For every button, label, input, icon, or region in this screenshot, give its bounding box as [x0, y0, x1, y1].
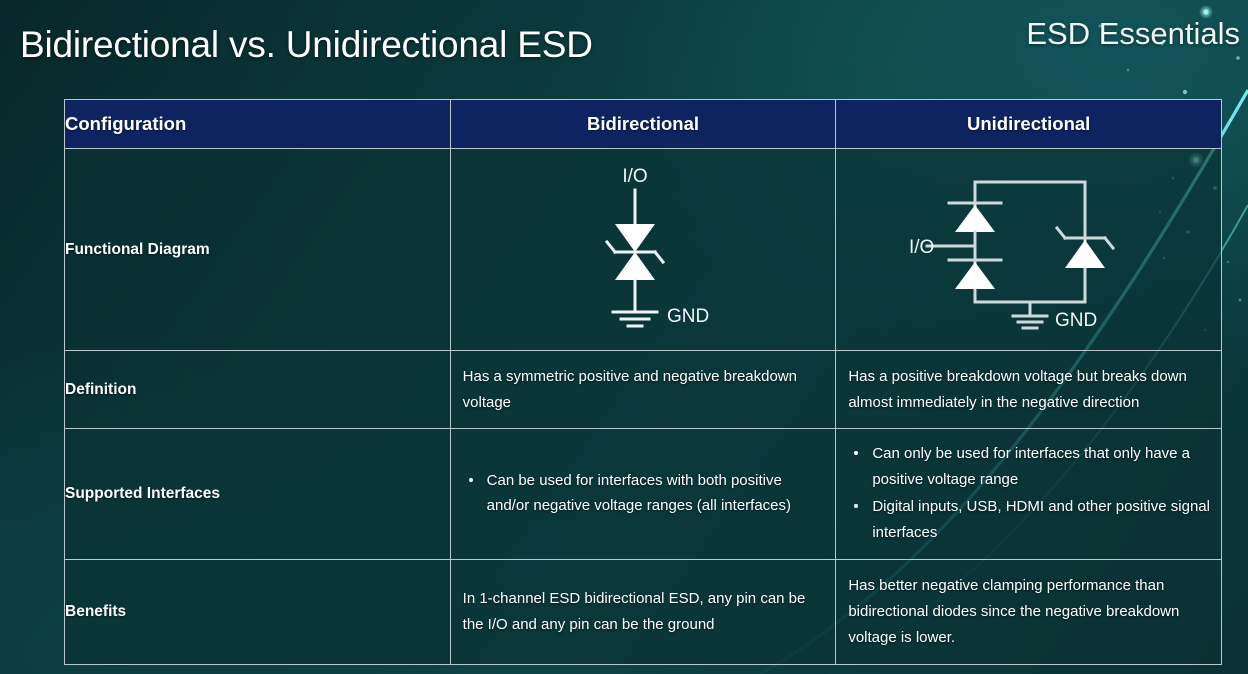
svg-text:I/O: I/O	[622, 166, 647, 187]
benefits-bidirectional-text: In 1-channel ESD bidirectional ESD, any …	[463, 586, 822, 638]
cell-bidirectional-benefits: In 1-channel ESD bidirectional ESD, any …	[450, 560, 836, 665]
list-item: Can only be used for interfaces that onl…	[850, 441, 1211, 493]
cell-bidirectional-diagram: I/O	[450, 149, 836, 351]
table-row-supported-interfaces: Supported Interfaces Can be used for int…	[65, 429, 1222, 560]
bidirectional-interface-list: Can be used for interfaces with both pos…	[451, 458, 836, 532]
table-row-benefits: Benefits In 1-channel ESD bidirectional …	[65, 560, 1222, 665]
row-label-functional-diagram: Functional Diagram	[65, 149, 451, 351]
cell-unidirectional-diagram: I/O GND	[836, 149, 1222, 351]
table-body: Functional Diagram I/O	[65, 149, 1222, 665]
cell-bidirectional-definition: Has a symmetric positive and negative br…	[450, 351, 836, 429]
definition-unidirectional-text: Has a positive breakdown voltage but bre…	[848, 364, 1207, 416]
page-title: Bidirectional vs. Unidirectional ESD	[20, 24, 593, 66]
table-row-functional-diagram: Functional Diagram I/O	[65, 149, 1222, 351]
table-header-row: Configuration Bidirectional Unidirection…	[65, 100, 1222, 149]
row-label-supported-interfaces: Supported Interfaces	[65, 429, 451, 560]
svg-text:GND: GND	[1055, 310, 1097, 331]
benefits-unidirectional-text: Has better negative clamping performance…	[848, 573, 1207, 650]
unidirectional-tvs-diode-schematic: I/O GND	[909, 160, 1149, 340]
definition-bidirectional-text: Has a symmetric positive and negative br…	[463, 364, 822, 416]
bidirectional-tvs-diode-schematic: I/O	[553, 160, 733, 340]
column-header-bidirectional: Bidirectional	[450, 100, 836, 149]
unidirectional-interface-list: Can only be used for interfaces that onl…	[836, 431, 1221, 558]
svg-text:I/O: I/O	[909, 237, 934, 258]
list-item: Digital inputs, USB, HDMI and other posi…	[850, 494, 1211, 546]
cell-unidirectional-supported-interfaces: Can only be used for interfaces that onl…	[836, 429, 1222, 560]
list-item: Can be used for interfaces with both pos…	[465, 468, 826, 520]
row-label-benefits: Benefits	[65, 560, 451, 665]
deck-label: ESD Essentials	[1026, 16, 1240, 52]
row-label-definition: Definition	[65, 351, 451, 429]
table-header: Configuration Bidirectional Unidirection…	[65, 100, 1222, 149]
title-row: Bidirectional vs. Unidirectional ESD ESD…	[0, 0, 1248, 92]
svg-text:GND: GND	[667, 306, 709, 327]
comparison-table: Configuration Bidirectional Unidirection…	[64, 99, 1222, 665]
column-header-unidirectional: Unidirectional	[836, 100, 1222, 149]
cell-bidirectional-supported-interfaces: Can be used for interfaces with both pos…	[450, 429, 836, 560]
cell-unidirectional-definition: Has a positive breakdown voltage but bre…	[836, 351, 1222, 429]
cell-unidirectional-benefits: Has better negative clamping performance…	[836, 560, 1222, 665]
slide-canvas: Bidirectional vs. Unidirectional ESD ESD…	[0, 0, 1248, 674]
table-row-definition: Definition Has a symmetric positive and …	[65, 351, 1222, 429]
column-header-configuration: Configuration	[65, 100, 451, 149]
